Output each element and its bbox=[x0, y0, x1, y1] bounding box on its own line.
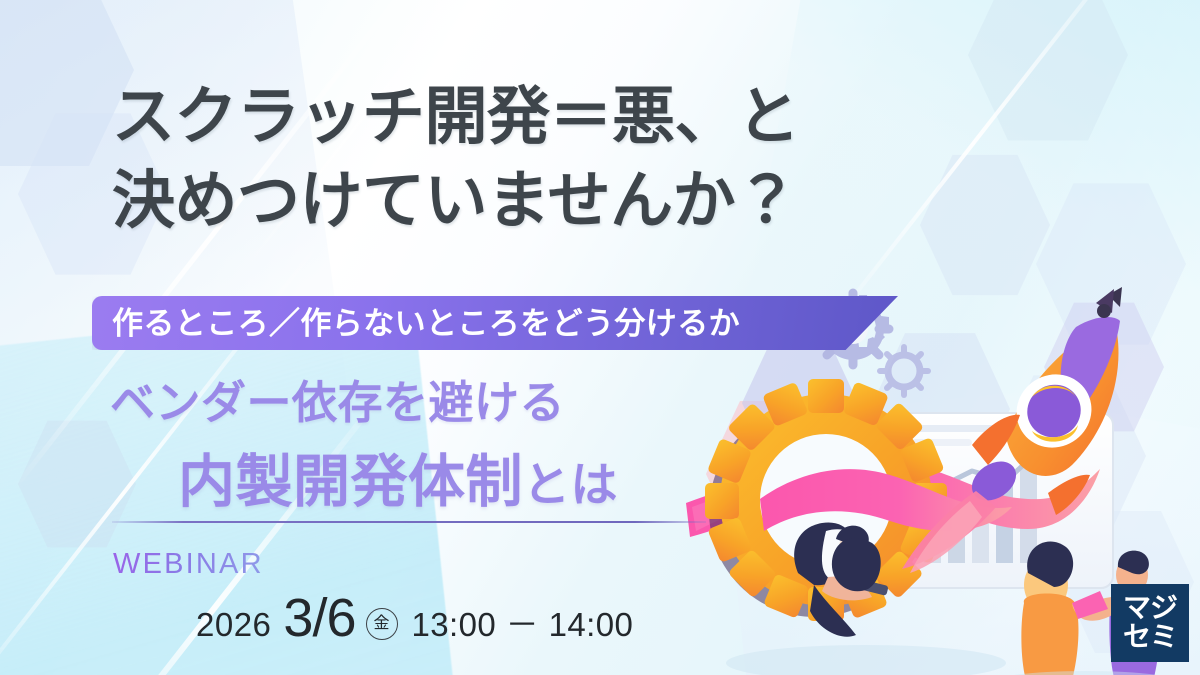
event-day-of-week-wrap: 金 bbox=[366, 608, 398, 640]
majiseminar-logo[interactable]: マジ セミ bbox=[1111, 584, 1189, 662]
event-day-of-week: 金 bbox=[366, 608, 398, 640]
hexagon-decoration bbox=[920, 152, 1050, 298]
subheading-line-2: 内製開発体制とは bbox=[178, 436, 618, 518]
subheading-line-1: ベンダー依存を避ける bbox=[110, 366, 565, 431]
logo-line-1: マジ bbox=[1123, 594, 1177, 623]
page-title: スクラッチ開発＝悪、と 決めつけていませんか？ bbox=[112, 76, 800, 244]
logo-line-2: セミ bbox=[1123, 623, 1177, 652]
webinar-label: WEBINAR bbox=[113, 548, 264, 581]
event-datetime: 2026 3/6 金 13:00 － 14:00 bbox=[196, 594, 633, 646]
hexagon-decoration bbox=[18, 418, 136, 550]
event-year: 2026 bbox=[196, 606, 271, 644]
floor-shadow bbox=[726, 645, 1006, 675]
divider bbox=[112, 521, 706, 523]
subheading-line-2-tail: とは bbox=[523, 458, 618, 511]
event-month-day: 3/6 bbox=[283, 594, 355, 643]
subtitle-ribbon-label: 作るところ／作らないところをどう分けるか bbox=[112, 302, 892, 346]
subheading-line-2-strong: 内製開発体制 bbox=[178, 450, 523, 514]
event-time: 13:00 － 14:00 bbox=[412, 598, 634, 646]
headline-line-2: 決めつけていませんか？ bbox=[112, 160, 800, 244]
hexagon-decoration bbox=[968, 0, 1128, 144]
headline-line-1: スクラッチ開発＝悪、と bbox=[112, 76, 800, 160]
webinar-banner: スクラッチ開発＝悪、と 決めつけていませんか？ 作るところ／作らないところをどう… bbox=[0, 0, 1200, 675]
